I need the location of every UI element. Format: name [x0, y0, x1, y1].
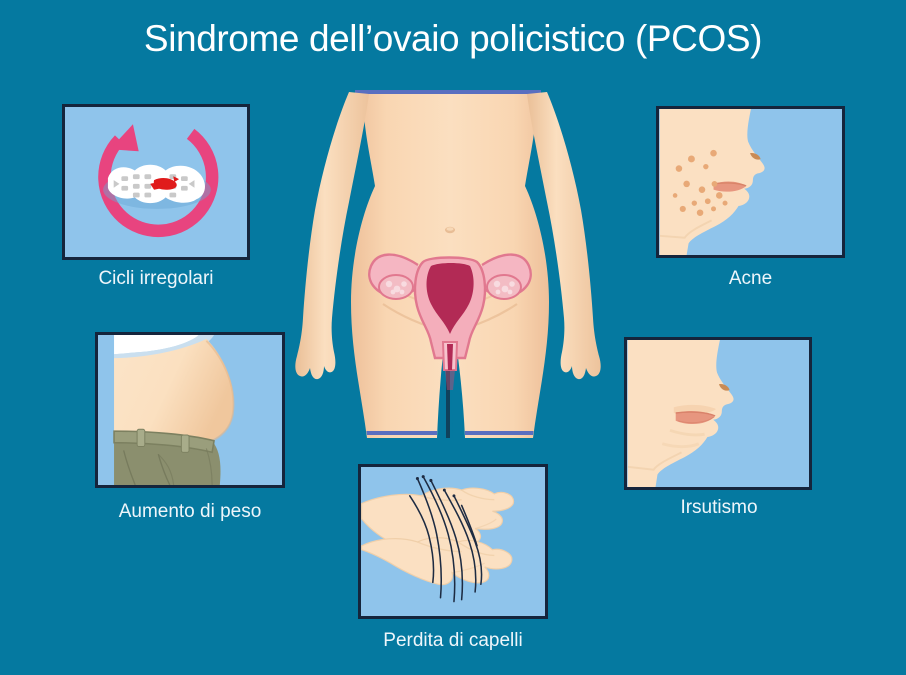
hand-lower	[362, 538, 512, 585]
page-title: Sindrome dell’ovaio policistico (PCOS)	[0, 18, 906, 60]
face-profile-acne-icon	[659, 109, 842, 255]
panel-label-aumento-di-peso: Aumento di peso	[85, 501, 295, 523]
panel-aumento-di-peso[interactable]	[95, 332, 285, 488]
hands-with-fallen-hair-icon	[361, 467, 545, 616]
panel-perdita-di-capelli[interactable]	[358, 464, 548, 619]
panel-label-acne: Acne	[656, 268, 845, 290]
belly-weight-gain-icon	[98, 335, 282, 485]
ovary-right	[487, 275, 521, 299]
panel-cicli-irregolari[interactable]	[62, 104, 250, 260]
sanitary-pad	[108, 165, 205, 203]
face-profile-hirsutism-icon	[627, 340, 809, 487]
central-figure-female-torso	[283, 90, 613, 445]
face-shape	[660, 109, 765, 255]
panel-label-perdita-di-capelli: Perdita di capelli	[348, 630, 558, 652]
panel-acne[interactable]	[656, 106, 845, 258]
panel-label-cicli-irregolari: Cicli irregolari	[62, 268, 250, 290]
sanitary-pad-cycle-arrow-icon	[65, 107, 247, 257]
panel-irsutismo[interactable]	[624, 337, 812, 490]
ovary-left	[379, 275, 413, 299]
panel-label-irsutismo: Irsutismo	[614, 497, 824, 519]
infographic-canvas: Sindrome dell’ovaio policistico (PCOS)	[0, 0, 906, 675]
